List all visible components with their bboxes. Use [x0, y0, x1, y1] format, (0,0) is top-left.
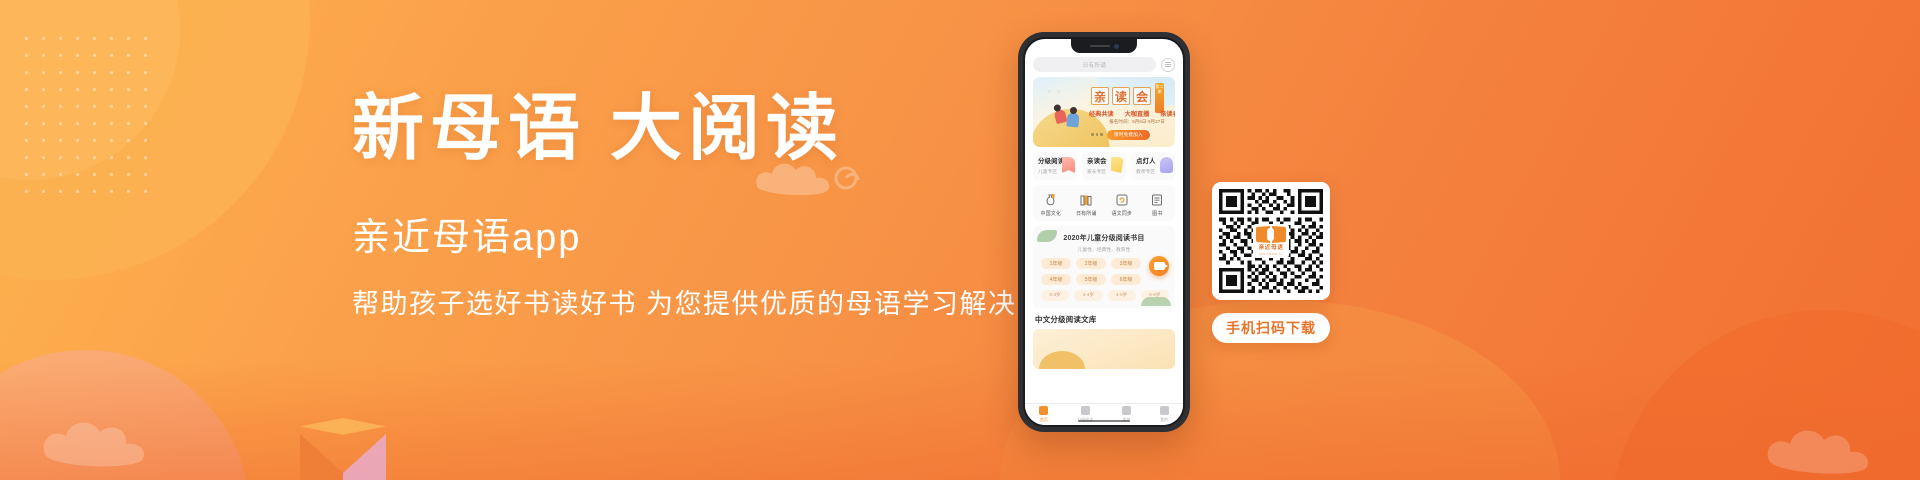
search-input[interactable]: 日有所诵 [1033, 57, 1156, 72]
cube-top-face [300, 418, 386, 448]
hero-title: 亲 读 会 [1091, 87, 1151, 105]
banner-copy: 新母语 大阅读 亲近母语app 帮助孩子选好书读好书 为您提供优质的母语学习解决… [352, 88, 1052, 322]
carousel-dots[interactable] [1091, 133, 1103, 136]
phone-notch [1071, 39, 1137, 53]
books-icon [1079, 193, 1093, 207]
user-icon [1160, 406, 1169, 415]
home-indicator [1078, 420, 1130, 423]
cloud-scroll-bottom-right-icon [1764, 408, 1904, 474]
category-cards: 分级阅读 儿童专区 亲读会 家长专区 点灯人 教师专区 [1033, 152, 1175, 180]
hero-title-char: 读 [1112, 87, 1130, 105]
book-icon [1150, 193, 1164, 207]
grade-chip[interactable]: 1年级 [1041, 258, 1071, 269]
banner-subtitle: 亲近母语app [352, 216, 1052, 262]
library-card[interactable] [1033, 329, 1175, 369]
promo-banner: 新母语 大阅读 亲近母语app 帮助孩子选好书读好书 为您提供优质的母语学习解决… [0, 0, 1920, 480]
quick-link-chinese-culture[interactable]: 中国文化 [1034, 193, 1068, 217]
category-card-teacher[interactable]: 点灯人 教师专区 [1131, 152, 1175, 180]
qr-download-block: 亲近母语 QIN JIN MU YU 手机扫码下载 [1212, 182, 1330, 343]
grade-chip-row-2: 4年级 5年级 6年级 [1039, 274, 1169, 285]
quick-link-daily-recitation[interactable]: 日有所诵 [1069, 193, 1103, 217]
logo-pinyin: QIN JIN MU YU [1259, 252, 1283, 256]
banner-tagline: 帮助孩子选好书读好书 为您提供优质的母语学习解决方案 [352, 287, 1052, 322]
person-icon [1160, 157, 1173, 173]
cloud-scroll-bottom-left-icon [40, 398, 190, 468]
age-chip[interactable]: 4-5岁 [1108, 290, 1136, 301]
quick-link-label: 日有所诵 [1076, 210, 1096, 217]
message-icon[interactable] [1161, 58, 1175, 72]
grade-chip[interactable]: 5年级 [1076, 274, 1106, 285]
hero-title-char: 会 [1133, 87, 1151, 105]
tab-home[interactable]: 首页 [1039, 406, 1048, 423]
booklist-subtitle: 儿童性、经典性、教育性 [1039, 246, 1169, 253]
vase-icon [1044, 193, 1058, 207]
hero-date: 报名时间：9月6日-9月27日 [1089, 119, 1175, 125]
hero-feature: 经典共读 [1089, 109, 1114, 118]
hero-feature: 亲读者说 [1160, 109, 1175, 118]
book-figure [1267, 228, 1274, 241]
quick-link-row: 中国文化 日有所诵 语文同步 [1033, 185, 1175, 221]
hero-feature: 大咖直播 [1125, 109, 1150, 118]
list-icon [1081, 406, 1090, 415]
page-icon [1111, 157, 1124, 173]
hero-banner[interactable]: ⁘ ⁙ 亲 读 会 第二期 经典共读 大咖直播 亲读者说 报名时间：9月6日-9… [1033, 77, 1175, 147]
compass-icon [1122, 406, 1131, 415]
category-card-graded-reading[interactable]: 分级阅读 儿童专区 [1033, 152, 1077, 180]
qr-code-image: 亲近母语 QIN JIN MU YU [1219, 189, 1323, 293]
hero-title-char: 亲 [1091, 87, 1109, 105]
age-chip[interactable]: 3-4岁 [1074, 290, 1102, 301]
qr-code-card: 亲近母语 QIN JIN MU YU [1212, 182, 1330, 300]
hill-icon [1039, 351, 1085, 369]
open-book-icon [1256, 226, 1286, 242]
decorative-gradient-bottom [0, 360, 1920, 480]
download-button[interactable]: 手机扫码下载 [1212, 313, 1330, 343]
grade-chip[interactable]: 3年级 [1111, 258, 1141, 269]
phone-bezel: 日有所诵 ⁘ ⁙ 亲 读 会 第二期 [1023, 37, 1185, 427]
search-row: 日有所诵 [1025, 57, 1183, 72]
tab-label: 我的 [1160, 417, 1168, 423]
quick-link-textbook-sync[interactable]: 语文同步 [1105, 193, 1139, 217]
qr-center-logo: 亲近母语 QIN JIN MU YU [1253, 224, 1289, 258]
tab-label: 首页 [1040, 417, 1048, 423]
booklist-title: 2020年儿童分级阅读书目 [1039, 233, 1169, 243]
library-section-title: 中文分级阅读文库 [1035, 314, 1173, 325]
hero-cta-button[interactable]: 限时免费加入 [1107, 130, 1150, 140]
category-card-parent-club[interactable]: 亲读会 家长专区 [1082, 152, 1126, 180]
grade-chip[interactable]: 2年级 [1076, 258, 1106, 269]
quick-link-label: 图书 [1152, 210, 1162, 217]
camera-icon [1114, 44, 1119, 49]
quick-link-label: 中国文化 [1041, 210, 1061, 217]
grade-chip[interactable]: 6年级 [1111, 274, 1141, 285]
grade-chip[interactable]: 4年级 [1041, 274, 1071, 285]
search-placeholder: 日有所诵 [1083, 61, 1107, 69]
sync-icon [1115, 193, 1129, 207]
birds-icon: ⁘ ⁙ [1047, 89, 1063, 95]
hill-decor-icon [1141, 297, 1171, 306]
age-chip[interactable]: 0-3岁 [1041, 290, 1069, 301]
cube-right-face [343, 434, 386, 480]
decorative-cube [300, 418, 386, 480]
page-title: 新母语 大阅读 [352, 88, 1052, 171]
hero-feature-row: 经典共读 大咖直播 亲读者说 [1089, 109, 1175, 118]
phone-screen: 日有所诵 ⁘ ⁙ 亲 读 会 第二期 [1025, 39, 1183, 425]
decorative-dot-grid [18, 30, 148, 205]
home-icon [1039, 406, 1048, 415]
phone-mockup: 日有所诵 ⁘ ⁙ 亲 读 会 第二期 [1018, 32, 1190, 432]
quick-link-label: 语文同步 [1112, 210, 1132, 217]
tab-profile[interactable]: 我的 [1160, 406, 1169, 423]
video-play-button[interactable] [1149, 256, 1169, 276]
child-figure-blue [1066, 112, 1079, 127]
book-right-page [1272, 226, 1286, 243]
video-camera-icon [1154, 262, 1165, 270]
logo-name: 亲近母语 [1259, 243, 1284, 251]
booklist-section: 2020年儿童分级阅读书目 儿童性、经典性、教育性 1年级 2年级 3年级 4年… [1033, 226, 1175, 308]
quick-link-books[interactable]: 图书 [1140, 193, 1174, 217]
cube-left-face [300, 434, 343, 480]
speaker-icon [1090, 45, 1110, 48]
